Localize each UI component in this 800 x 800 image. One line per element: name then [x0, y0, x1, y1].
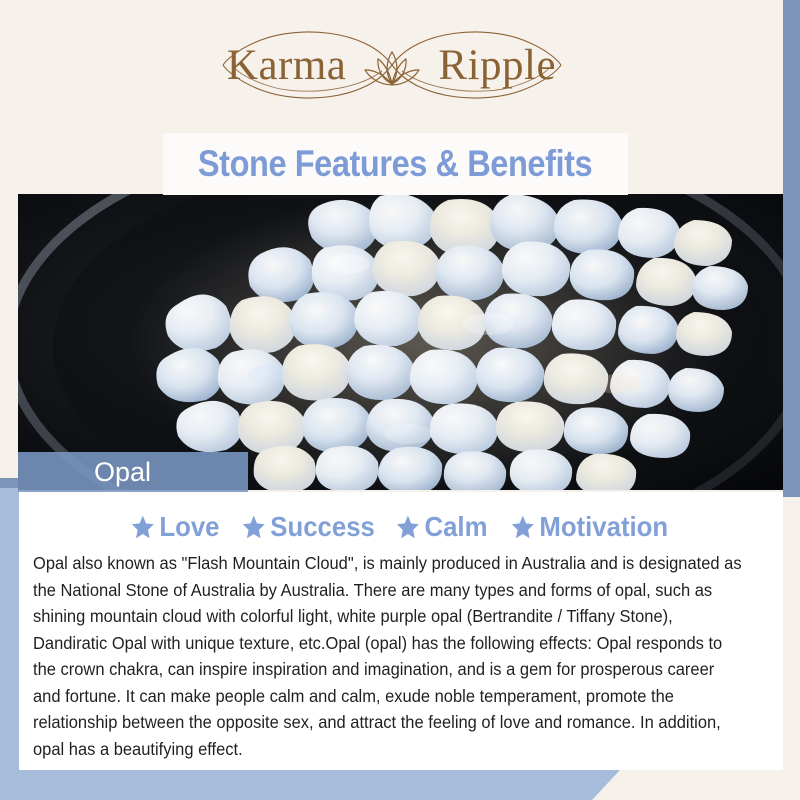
decorative-band-right: [783, 0, 800, 497]
benefits-row: Love Success Calm Motivation: [19, 492, 783, 543]
infographic-page: Karma Ripple Stone Features & Benefits: [0, 0, 800, 800]
brand-header: Karma Ripple: [0, 0, 783, 130]
stone-description: Opal also known as "Flash Mountain Cloud…: [33, 551, 743, 763]
benefit-item: Love: [131, 511, 220, 543]
decorative-band-left-cap: [0, 478, 19, 488]
decorative-band-right-lower: [783, 497, 800, 800]
stone-name-text: Opal: [94, 457, 151, 488]
benefit-item: Motivation: [511, 511, 668, 543]
page-title: Stone Features & Benefits: [198, 143, 592, 185]
benefit-item: Success: [241, 511, 374, 543]
brand-word-left: Karma: [227, 44, 347, 87]
brand-word-right: Ripple: [438, 44, 556, 87]
opal-stones-illustration: [18, 194, 783, 490]
star-icon: [511, 514, 535, 540]
benefit-label: Love: [160, 511, 220, 543]
benefit-label: Success: [270, 511, 375, 543]
product-photo: [18, 194, 783, 490]
benefit-item: Calm: [396, 511, 488, 543]
decorative-band-left: [0, 478, 19, 770]
lotus-icon: [356, 44, 428, 90]
benefit-label: Calm: [425, 511, 488, 543]
benefit-label: Motivation: [539, 511, 668, 543]
content-card: Love Success Calm Motivation O: [19, 492, 783, 770]
stone-name-label: Opal: [18, 452, 248, 492]
star-icon: [396, 514, 420, 540]
brand-logo: Karma Ripple: [177, 22, 607, 108]
decorative-band-bottom: [0, 770, 620, 800]
section-title-band: Stone Features & Benefits: [163, 133, 628, 195]
star-icon: [241, 514, 265, 540]
star-icon: [131, 514, 155, 540]
